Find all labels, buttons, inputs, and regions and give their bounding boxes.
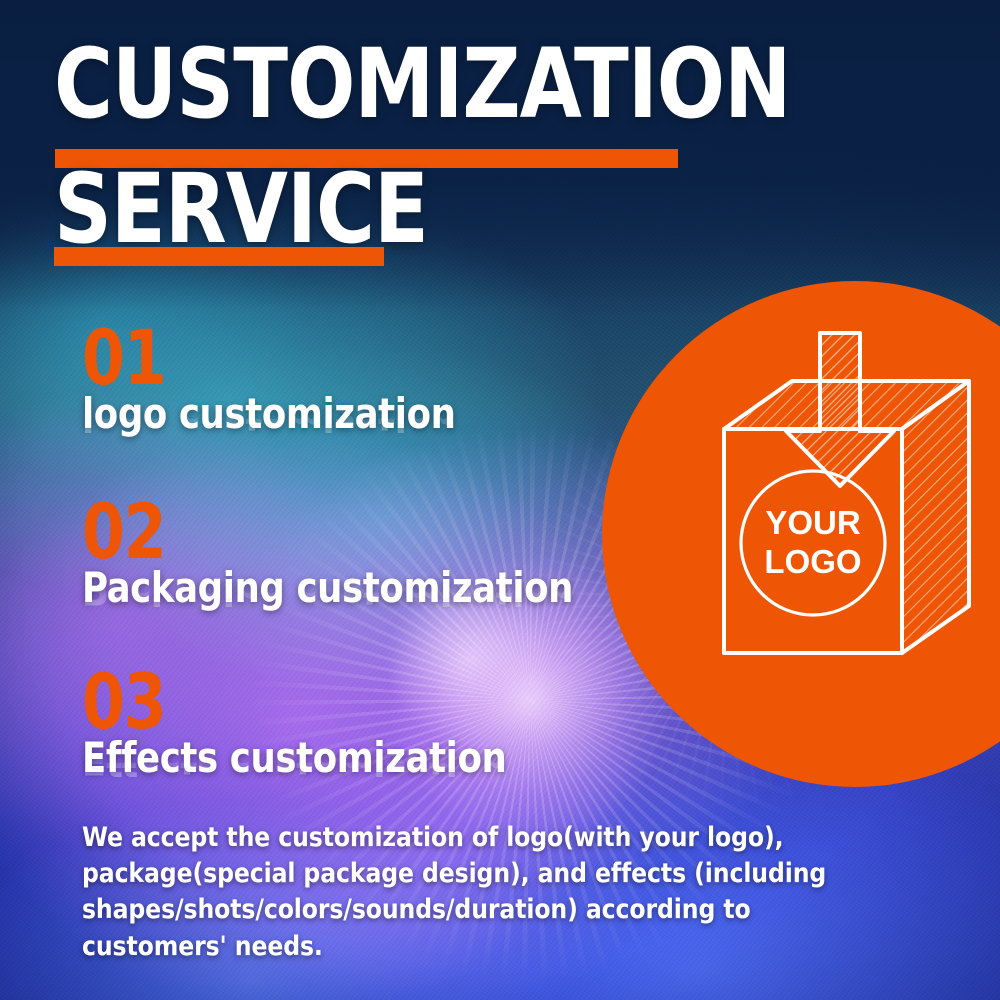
promo-poster: CUSTOMIZATION SERVICE 01 logo customizat… — [0, 0, 1000, 1000]
packaging-illustration: YOUR LOGO — [602, 281, 1000, 787]
description-line-4: customers' needs. — [82, 929, 819, 965]
service-item-3-number: 03 — [82, 672, 488, 731]
service-item-2-number: 02 — [82, 502, 552, 561]
service-item-1-number: 01 — [82, 328, 440, 387]
description-line-2: package(special package design), and eff… — [82, 856, 819, 892]
service-item-1-label: logo customization logo customization — [82, 393, 456, 436]
service-item-2: 02 Packaging customization Packaging cus… — [82, 502, 604, 610]
service-item-1-label-text: logo customization — [82, 389, 456, 438]
headline-line-1: CUSTOMIZATION — [54, 44, 705, 125]
description-paragraph: We accept the customization of logo(with… — [82, 820, 819, 965]
your-logo-line-2: LOGO — [764, 543, 861, 580]
service-item-3-label-text: Effects customization — [82, 733, 506, 782]
description-line-1: We accept the customization of logo(with… — [82, 820, 819, 856]
headline-line-2: SERVICE — [54, 169, 705, 250]
service-item-2-label-text: Packaging customization — [82, 563, 573, 612]
service-item-3-label: Effects customization Effects customizat… — [82, 737, 506, 780]
service-item-2-label: Packaging customization Packaging custom… — [82, 567, 573, 610]
box-right-face — [902, 381, 969, 653]
description-line-3: shapes/shots/colors/sounds/duration) acc… — [82, 892, 819, 928]
service-item-1: 01 logo customization logo customization — [82, 328, 479, 436]
service-item-3: 03 Effects customization Effects customi… — [82, 672, 534, 780]
your-logo-line-1: YOUR — [765, 504, 861, 541]
headline-block: CUSTOMIZATION SERVICE — [54, 44, 754, 249]
box-front-face — [724, 429, 902, 653]
headline-underline-2 — [54, 247, 384, 266]
